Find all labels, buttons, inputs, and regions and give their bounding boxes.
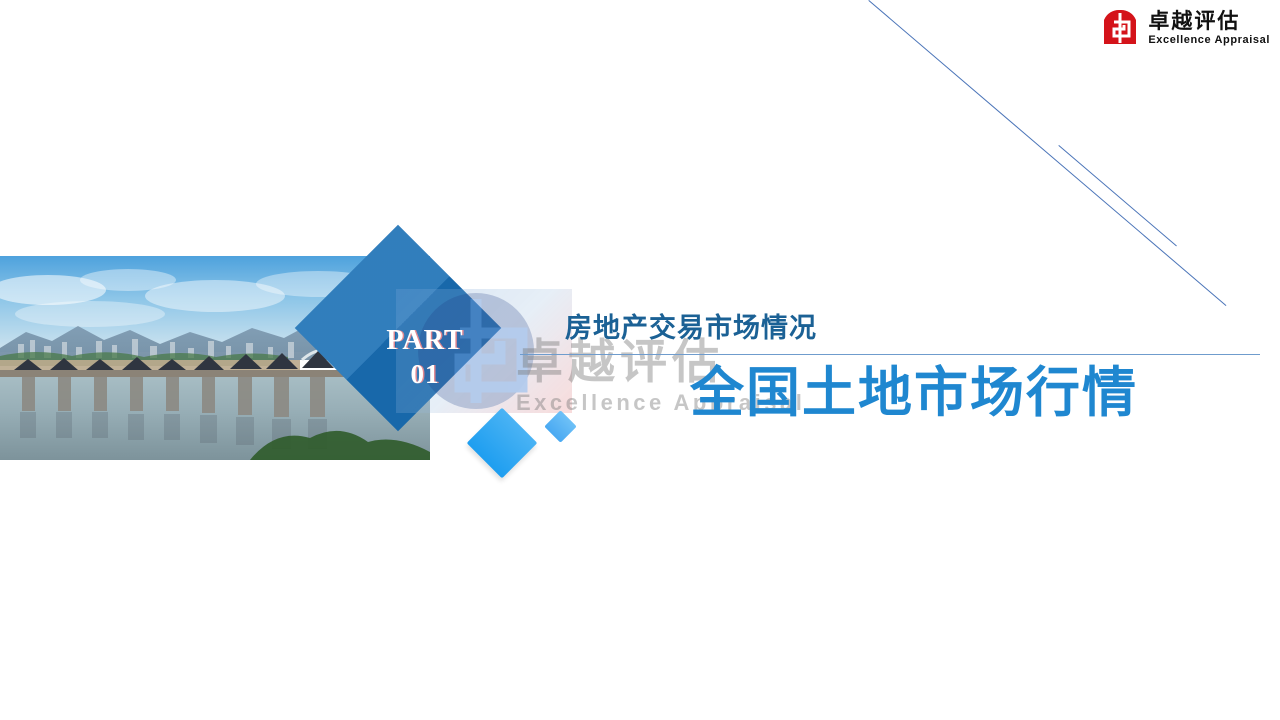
logo-text-block: 卓越评估 Excellence Appraisal (1148, 11, 1270, 46)
company-logo: 卓越评估 Excellence Appraisal (1100, 8, 1270, 48)
part-number: 01 (360, 361, 490, 388)
title-underline (520, 354, 1260, 355)
presentation-slide: 卓越评估 Excellence Appraisal PART 01 房地产交易市… (0, 0, 1280, 720)
slide-title: 全国土地市场行情 (690, 362, 1138, 424)
slide-subtitle: 房地产交易市场情况 (565, 306, 817, 345)
decor-diamond-small (544, 410, 577, 443)
decor-diamond-medium (467, 408, 538, 479)
logo-chinese: 卓越评估 (1148, 11, 1270, 32)
excellence-appraisal-mark-icon (1100, 8, 1140, 48)
part-label: PART (360, 327, 490, 355)
diagonal-line-short (1058, 145, 1177, 246)
logo-english: Excellence Appraisal (1148, 35, 1270, 46)
part-indicator: PART 01 (360, 327, 490, 388)
